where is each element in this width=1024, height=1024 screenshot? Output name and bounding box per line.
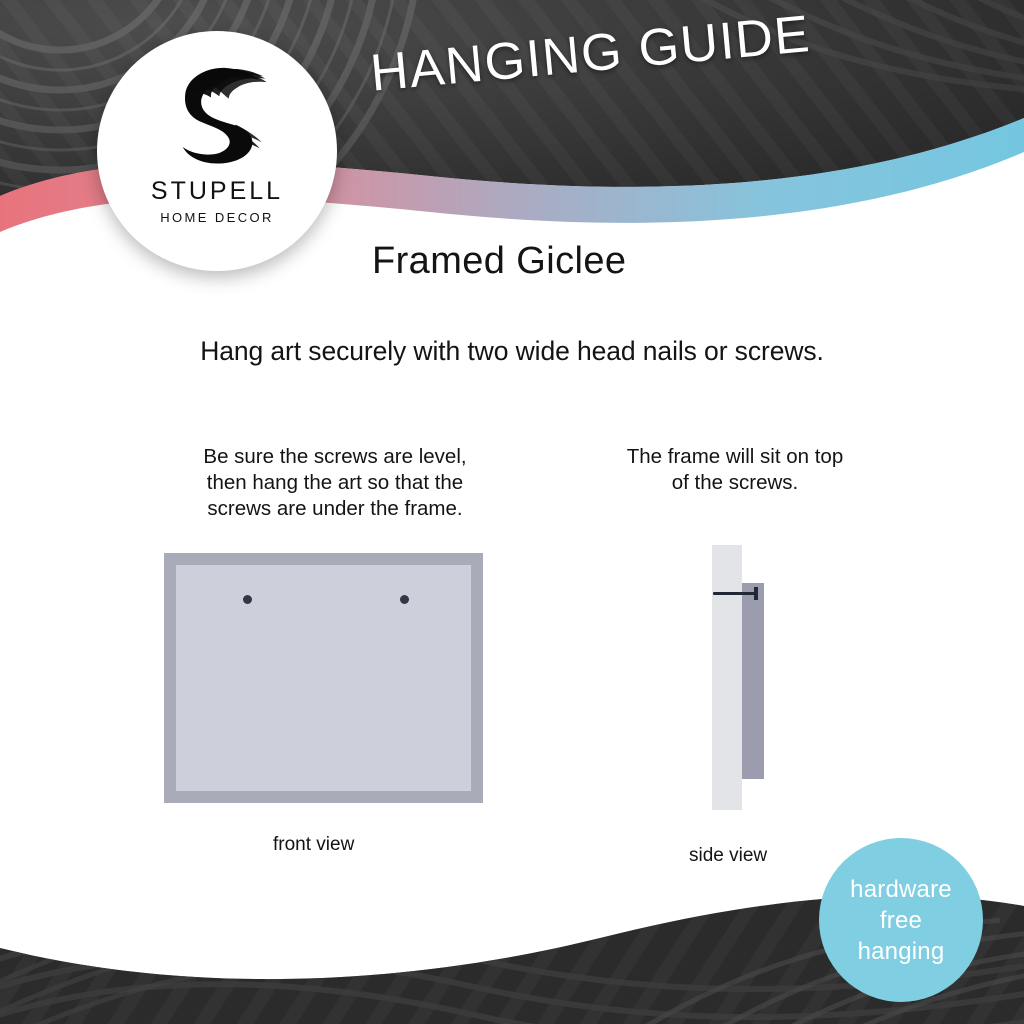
front-view-frame-illustration [164,553,483,803]
screw-dot-left-icon [243,595,252,604]
nail-head-icon [754,587,758,600]
front-view-section: Be sure the screws are level, then hang … [120,444,550,522]
front-view-caption: Be sure the screws are level, then hang … [120,444,550,522]
main-instruction-text: Hang art securely with two wide head nai… [0,336,1024,367]
front-view-label: front view [273,834,354,856]
side-view-illustration [700,545,810,810]
side-view-section: The frame will sit on top of the screws. [585,444,885,496]
badge-line-1: hardware [850,874,952,905]
side-view-frame [742,583,764,779]
front-caption-line-1: Be sure the screws are level, [120,444,550,470]
front-caption-line-2: then hang the art so that the [120,470,550,496]
badge-line-2: free [880,905,922,936]
badge-line-3: hanging [858,936,945,967]
front-view-frame-inner-panel [176,565,471,791]
front-caption-line-3: screws are under the frame. [120,496,550,522]
side-view-label: side view [689,845,767,867]
product-type-label: Framed Giclee [372,240,626,283]
screw-dot-right-icon [400,595,409,604]
brand-logo-badge: STUPELL HOME DECOR [97,31,337,271]
brand-name: STUPELL [151,179,283,204]
page-title: HANGING GUIDE [368,0,891,104]
side-view-caption: The frame will sit on top of the screws. [585,444,885,496]
brand-tagline: HOME DECOR [160,211,274,224]
hanging-guide-page: STUPELL HOME DECOR HANGING GUIDE Framed … [0,0,1024,1024]
side-caption-line-2: of the screws. [585,470,885,496]
hardware-free-hanging-badge: hardware free hanging [819,838,983,1002]
stupell-swoosh-logo-icon [158,55,276,173]
side-view-wall [712,545,742,810]
side-caption-line-1: The frame will sit on top [585,444,885,470]
nail-shaft-icon [713,592,757,595]
